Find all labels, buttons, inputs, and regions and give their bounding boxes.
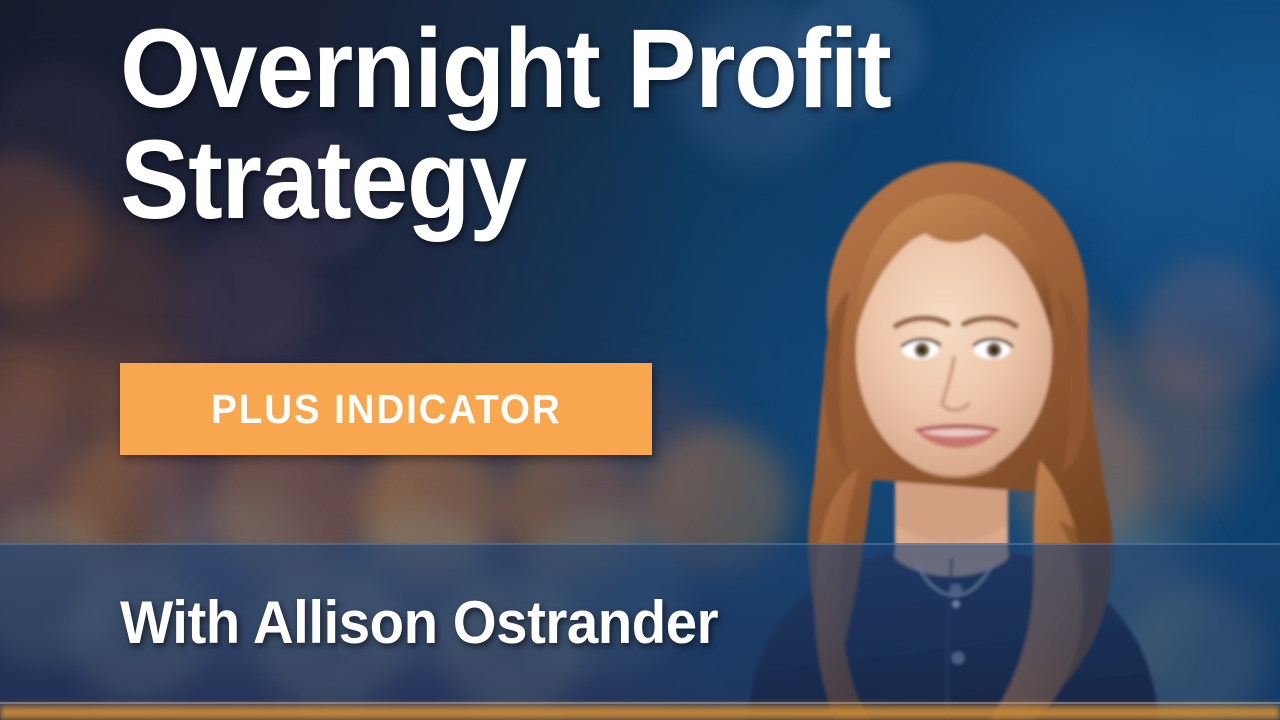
title-card: Overnight Profit Strategy PLUS INDICATOR… xyxy=(0,0,1280,720)
badge-label: PLUS INDICATOR xyxy=(211,386,561,433)
page-title: Overnight Profit Strategy xyxy=(120,14,1050,236)
plus-indicator-badge: PLUS INDICATOR xyxy=(120,363,652,455)
presenter-credit: With Allison Ostrander xyxy=(120,588,718,657)
